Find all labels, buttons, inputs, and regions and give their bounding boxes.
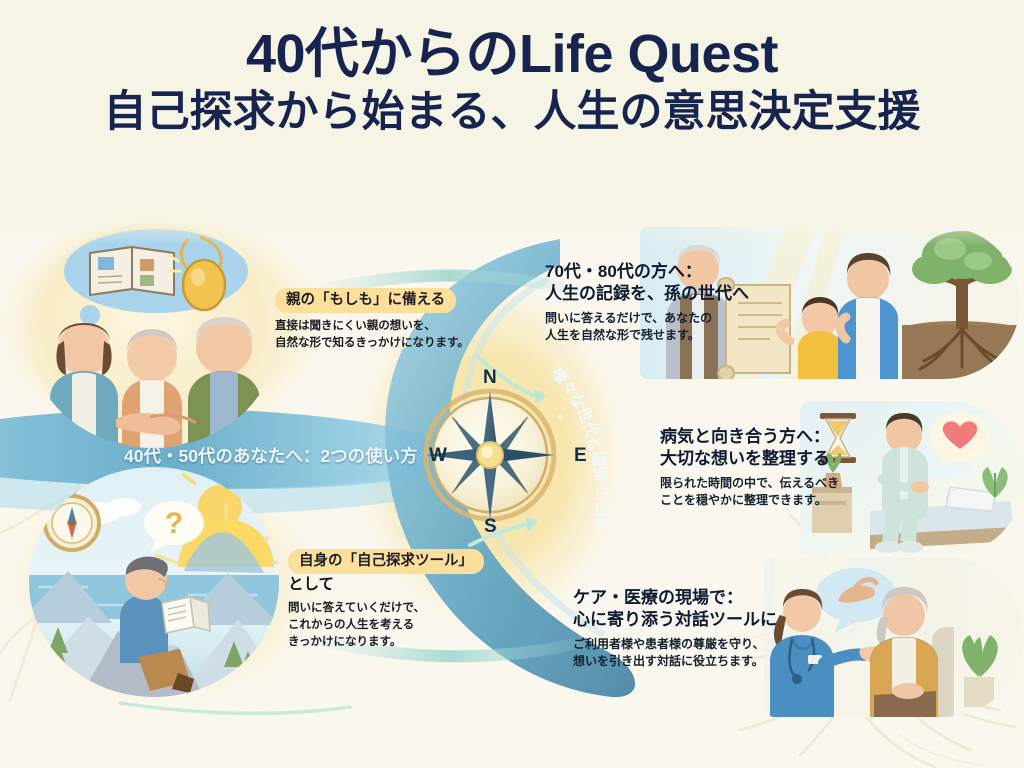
left-usage-banner: 40代・50代のあなたへ：2つの使い方 bbox=[124, 443, 418, 468]
heading-facing-illness: 病気と向き合う方へ： 大切な想いを整理する bbox=[660, 426, 872, 471]
infographic-root: 40代からのLife Quest 自己探求から始まる、人生の意思決定支援 bbox=[0, 0, 1024, 768]
right-curved-banner: 様々な世代と場面で活用 bbox=[380, 325, 660, 725]
illustration-parent-preparation bbox=[28, 223, 278, 448]
header: 40代からのLife Quest 自己探求から始まる、人生の意思決定支援 bbox=[0, 0, 1024, 205]
text-facing-illness: 病気と向き合う方へ： 大切な想いを整理する 限られた時間の中で、伝えるべき こと… bbox=[660, 426, 872, 510]
photo-album-icon bbox=[90, 247, 174, 295]
heading-legacy-for-grandchildren: 70代・80代の方へ： 人生の記録を、孫の世代へ bbox=[545, 261, 775, 306]
svg-text:?: ? bbox=[165, 507, 183, 540]
compass-label-south: S bbox=[484, 516, 497, 538]
page-title: 40代からのLife Quest bbox=[246, 26, 778, 83]
page-subtitle: 自己探求から始まる、人生の意思決定支援 bbox=[104, 89, 921, 136]
compass-label-east: E bbox=[574, 445, 587, 467]
body-facing-illness: 限られた時間の中で、伝えるべき ことを穏やかに整理できます。 bbox=[660, 475, 872, 510]
book-icon bbox=[162, 597, 210, 633]
diagram-canvas: ? bbox=[0, 205, 1024, 768]
compass-label-north: N bbox=[483, 367, 497, 389]
compass-label-west: W bbox=[429, 445, 447, 467]
pill-parent-preparation: 親の「もしも」に備える bbox=[275, 288, 456, 313]
illustration-care-medical-setting bbox=[764, 557, 1024, 717]
illustration-self-exploration-tool: ? bbox=[28, 467, 280, 697]
